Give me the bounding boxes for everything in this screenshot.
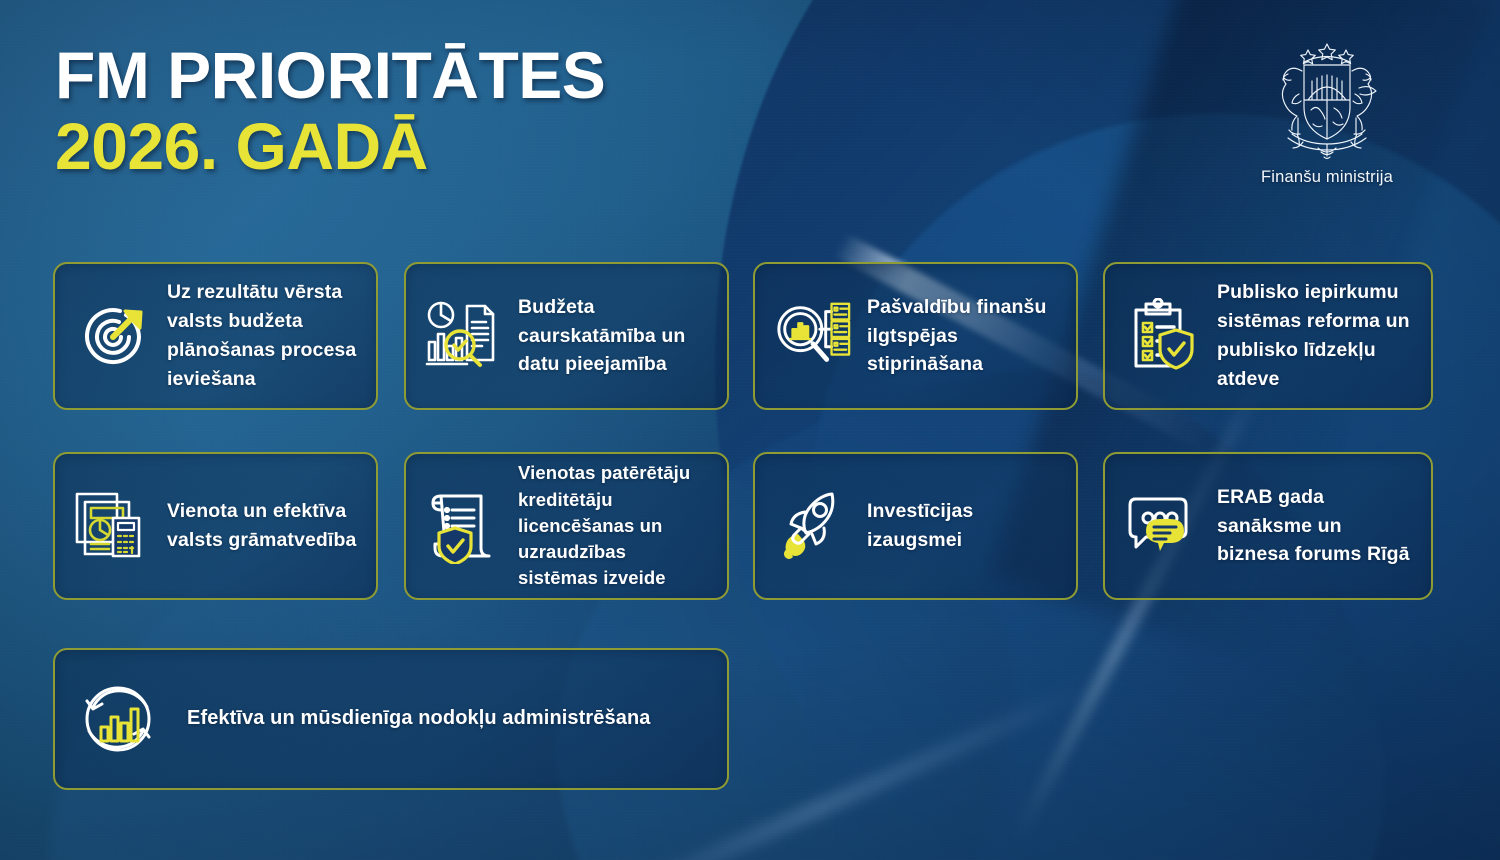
- title-line-primary: FM PRIORITĀTES: [55, 42, 605, 109]
- charts-magnifier-icon: [424, 296, 504, 376]
- infographic-canvas: FM PRIORITĀTES 2026. GADĀ: [0, 0, 1500, 860]
- priority-card-label: Vienota un efektīva valsts grāmatvedība: [167, 497, 360, 555]
- clipboard-shield-icon: [1123, 296, 1203, 376]
- priority-card-label: Budžeta caurskatāmība un datu pieejamība: [518, 293, 711, 380]
- priority-card-ebrd-meeting[interactable]: ERAB gada sanāksme un biznesa forums Rīg…: [1103, 452, 1433, 600]
- target-dart-icon: [73, 296, 153, 376]
- priority-card-tax-administration[interactable]: Efektīva un mūsdienīga nodokļu administr…: [53, 648, 729, 790]
- magnifier-records-icon: [773, 296, 853, 376]
- priority-card-investments-growth[interactable]: Investīcijas izaugsmei: [753, 452, 1078, 600]
- documents-calculator-icon: [73, 486, 153, 566]
- cycle-bars-icon: [75, 676, 161, 762]
- priority-card-label: Publisko iepirkumu sistēmas reforma un p…: [1217, 278, 1415, 393]
- priority-card-label: Investīcijas izaugsmei: [867, 497, 1060, 555]
- priority-card-public-procurement[interactable]: Publisko iepirkumu sistēmas reforma un p…: [1103, 262, 1433, 410]
- priority-card-municipal-finance[interactable]: Pašvaldību finanšu ilgtspējas stiprināša…: [753, 262, 1078, 410]
- rocket-icon: [773, 486, 853, 566]
- priority-card-label: Pašvaldību finanšu ilgtspējas stiprināša…: [867, 293, 1060, 380]
- speech-bubbles-icon: [1123, 486, 1203, 566]
- priority-card-budget-transparency[interactable]: Budžeta caurskatāmība un datu pieejamība: [404, 262, 729, 410]
- latvia-coat-of-arms-icon: [1258, 38, 1396, 162]
- priority-card-label: Efektīva un mūsdienīga nodokļu administr…: [187, 704, 651, 734]
- priority-card-label: Uz rezultātu vērsta valsts budžeta plāno…: [167, 278, 360, 393]
- title-line-secondary: 2026. GADĀ: [55, 113, 605, 180]
- page-title: FM PRIORITĀTES 2026. GADĀ: [55, 42, 605, 181]
- priority-card-state-accounting[interactable]: Vienota un efektīva valsts grāmatvedība: [53, 452, 378, 600]
- priority-card-label: ERAB gada sanāksme un biznesa forums Rīg…: [1217, 483, 1415, 570]
- ministry-logo-caption: Finanšu ministrija: [1212, 168, 1442, 187]
- priority-card-consumer-credit[interactable]: Vienotas patērētāju kreditētāju licencēš…: [404, 452, 729, 600]
- priority-card-label: Vienotas patērētāju kreditētāju licencēš…: [518, 460, 711, 591]
- scroll-shield-icon: [424, 486, 504, 566]
- ministry-logo: Finanšu ministrija: [1212, 38, 1442, 187]
- priority-card-results-based-budget[interactable]: Uz rezultātu vērsta valsts budžeta plāno…: [53, 262, 378, 410]
